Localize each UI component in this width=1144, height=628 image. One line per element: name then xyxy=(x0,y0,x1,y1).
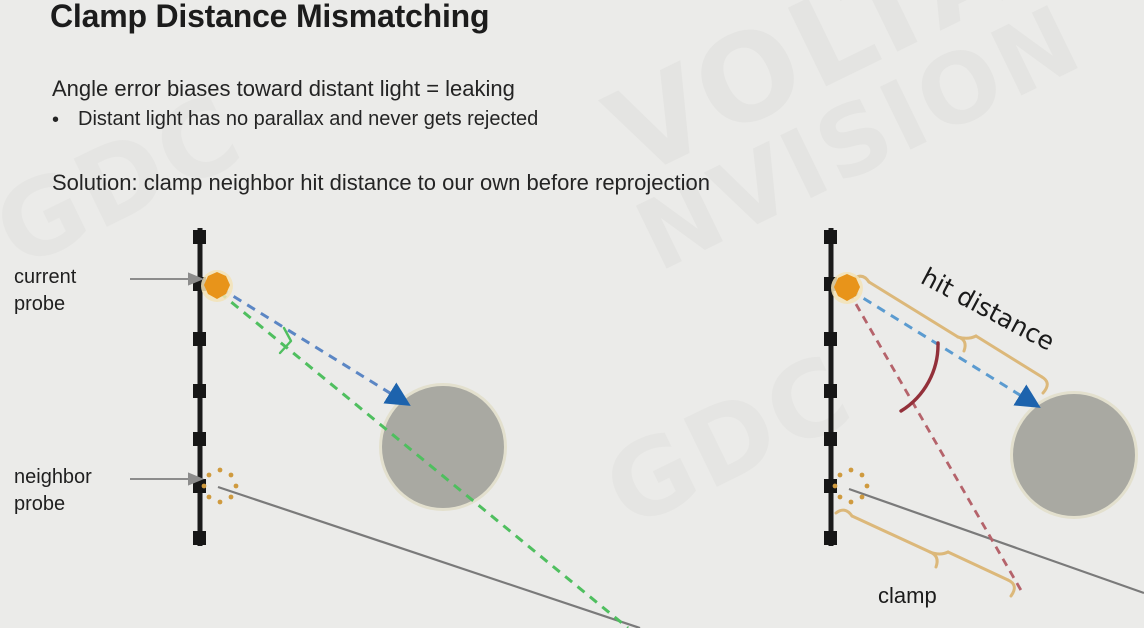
occluder-sphere-right xyxy=(1013,394,1135,516)
neighbor-probe-right xyxy=(833,468,870,505)
label-clamp: clamp xyxy=(878,583,937,609)
right-diagram-group xyxy=(824,228,1144,596)
occluder-sphere-left xyxy=(382,386,504,508)
blue-ray-left xyxy=(220,288,398,398)
angle-arc-right xyxy=(901,343,938,411)
label-current-probe: current probe xyxy=(14,264,76,318)
red-ray-right xyxy=(849,292,1022,592)
green-ray-left xyxy=(219,292,628,628)
label-neighbor-probe: neighbor probe xyxy=(14,464,92,518)
slide-canvas: VOLTA NVISION GDC GDC Clamp Distance Mis… xyxy=(0,0,1144,628)
left-diagram-group xyxy=(130,228,640,628)
neighbor-probe-left xyxy=(202,468,239,505)
